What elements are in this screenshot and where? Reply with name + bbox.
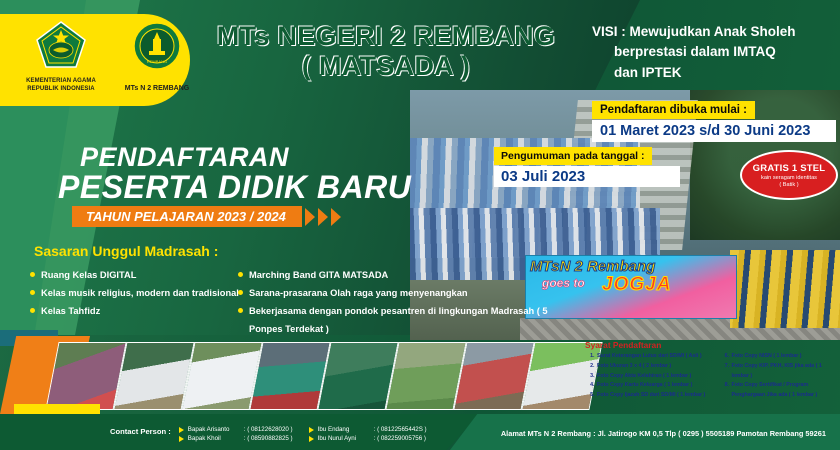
goal-text: Kelas musik religius, modern dan tradisi… — [41, 284, 239, 302]
bullet-dot-icon — [30, 308, 35, 313]
bullet-dot-icon — [238, 290, 243, 295]
headline: PENDAFTARAN PESERTA DIDIK BARU — [58, 142, 518, 206]
requirements-title: Syarat Pendaftaran — [585, 340, 837, 350]
chevron-right-icon-3 — [331, 208, 341, 226]
photo-strip — [0, 336, 580, 414]
requirements-section: Syarat Pendaftaran Surat Keterangan Lulu… — [585, 340, 837, 401]
list-item: Kelas musik religius, modern dan tradisi… — [30, 284, 245, 302]
school-title: MTs NEGERI 2 REMBANG ( MATSADA ) — [196, 22, 576, 80]
kemenag-caption-line1: KEMENTERIAN AGAMA — [22, 78, 100, 86]
arrow-right-icon — [179, 427, 184, 433]
headline-line2: PESERTA DIDIK BARU — [58, 169, 518, 206]
list-item: Foto Copy Akta Kelahiran ( 1 lembar ) — [596, 372, 714, 382]
school-title-line2: ( MATSADA ) — [196, 52, 576, 80]
registration-open-dates: 01 Maret 2023 s/d 30 Juni 2023 — [592, 120, 836, 142]
contact-phone: : ( 08122565442S ) — [374, 426, 427, 433]
contact-name: Ibu Nurul Ayni — [318, 435, 370, 442]
bullet-dot-icon — [238, 308, 243, 313]
contact-phone: : ( 082259005756 ) — [374, 435, 426, 442]
vision-statement: VISI : Mewujudkan Anak Sholeh berprestas… — [592, 22, 832, 83]
requirements-column-1: Surat Keterangan Lulus dari SD/MI ( Asli… — [585, 352, 714, 401]
free-badge-line3: ( Batik ) — [742, 182, 836, 188]
list-item: Foto Copy Ijazah SD dari SD/MI ( 1 lemba… — [596, 391, 714, 401]
goals-column-2: Marching Band GITA MATSADA Sarana-prasar… — [238, 266, 568, 339]
goal-text: Bekerjasama dengan pondok pesantren di l… — [249, 302, 568, 338]
kemenag-caption: KEMENTERIAN AGAMA REPUBLIK INDONESIA — [22, 78, 100, 94]
contact-phone: : ( 08122628020 ) — [244, 426, 293, 433]
requirements-column-2: Foto Copy NISN ( 1 lembar ) Foto Copy KI… — [720, 352, 837, 401]
free-badge-line2: kain seragam identitas — [742, 175, 836, 181]
goal-text: Sarana-prasarana Olah raga yang menyenan… — [249, 284, 468, 302]
madrasah-caption: MTs N 2 REMBANG — [118, 85, 196, 92]
school-address: Alamat MTs N 2 Rembang : Jl. Jatirogo KM… — [501, 429, 826, 438]
registration-open-label: Pendaftaran dibuka mulai : — [592, 101, 755, 119]
contact-name: Ibu Endang — [318, 426, 370, 433]
logo-group: KEMENTERIAN AGAMA REPUBLIK INDONESIA REM… — [22, 20, 196, 94]
list-item: Foto Copy KIP, PKH, KIS jika ada ( 1 lem… — [731, 362, 837, 382]
list-item: Bapak Khoil: ( 08590882825 ) — [179, 435, 293, 442]
kemenag-logo — [35, 20, 87, 70]
jogja-trip-photo: MTsN 2 Rembang goes to JOGJA — [520, 250, 840, 340]
vision-line2: berprestasi dalam IMTAQ — [592, 42, 832, 62]
bullet-dot-icon — [30, 290, 35, 295]
contact-phone: : ( 08590882825 ) — [244, 435, 293, 442]
contact-name: Bapak Khoil — [188, 435, 240, 442]
contact-name: Bapak Arisanto — [188, 426, 240, 433]
list-item: Surat Keterangan Lulus dari SD/MI ( Asli… — [596, 352, 714, 362]
list-item: Foto Ukuran 3 x 4 ( 2 lembar ) — [596, 362, 714, 372]
list-item: Ibu Nurul Ayni: ( 082259005756 ) — [309, 435, 427, 442]
chevron-right-icon-2 — [318, 208, 328, 226]
list-item: Ruang Kelas DIGITAL — [30, 266, 245, 284]
announcement-box: Pengumuman pada tanggal : 03 Juli 2023 — [494, 146, 680, 187]
madrasah-logo-cell: REMBANG MTs N 2 REMBANG — [118, 21, 196, 92]
contact-grid: Bapak Arisanto: ( 08122628020 ) Bapak Kh… — [179, 426, 427, 442]
list-item: Bapak Arisanto: ( 08122628020 ) — [179, 426, 293, 433]
goals-column-1: Ruang Kelas DIGITAL Kelas musik religius… — [30, 266, 245, 320]
free-badge-line1: GRATIS 1 STEL — [742, 163, 836, 174]
academic-year-banner: TAHUN PELAJARAN 2023 / 2024 — [72, 206, 341, 227]
requirements-columns: Surat Keterangan Lulus dari SD/MI ( Asli… — [585, 352, 837, 401]
madrasah-logo: REMBANG — [132, 21, 182, 71]
list-item: Marching Band GITA MATSADA — [238, 266, 568, 284]
promotional-banner: MTsN 2 Rembang goes to JOGJA KEMENTERIAN… — [0, 0, 840, 450]
svg-text:REMBANG: REMBANG — [147, 59, 167, 64]
contact-column-2: Ibu Endang: ( 08122565442S ) Ibu Nurul A… — [309, 426, 427, 442]
kemenag-caption-line2: REPUBLIK INDONESIA — [22, 86, 100, 94]
list-item: Sarana-prasarana Olah raga yang menyenan… — [238, 284, 568, 302]
kemenag-logo-cell: KEMENTERIAN AGAMA REPUBLIK INDONESIA — [22, 20, 100, 94]
vision-line3: dan IPTEK — [592, 63, 832, 83]
goals-title: Sasaran Unggul Madrasah : — [34, 243, 218, 259]
contact-section: Contact Person : Bapak Arisanto: ( 08122… — [110, 426, 427, 442]
goal-text: Marching Band GITA MATSADA — [249, 266, 388, 284]
list-item: Foto Copy Sertifikat / Program Pengharga… — [731, 381, 837, 401]
announcement-date: 03 Juli 2023 — [494, 166, 680, 187]
contact-column-1: Bapak Arisanto: ( 08122628020 ) Bapak Kh… — [179, 426, 293, 442]
contact-label: Contact Person : — [110, 426, 171, 436]
bullet-dot-icon — [238, 272, 243, 277]
academic-year-label: TAHUN PELAJARAN 2023 / 2024 — [72, 206, 302, 227]
photo-teachers — [730, 250, 840, 328]
arrow-right-icon — [309, 427, 314, 433]
bullet-dot-icon — [30, 272, 35, 277]
free-uniform-badge: GRATIS 1 STEL kain seragam identitas ( B… — [742, 152, 836, 198]
list-item: Foto Copy NISN ( 1 lembar ) — [731, 352, 837, 362]
list-item: Bekerjasama dengan pondok pesantren di l… — [238, 302, 568, 338]
goal-text: Kelas Tahfidz — [41, 302, 100, 320]
goal-text: Ruang Kelas DIGITAL — [41, 266, 136, 284]
arrow-right-icon — [179, 436, 184, 442]
jogja-banner-line3: JOGJA — [602, 274, 671, 296]
vision-line1: VISI : Mewujudkan Anak Sholeh — [592, 24, 796, 39]
arrow-right-icon — [309, 436, 314, 442]
school-title-line1: MTs NEGERI 2 REMBANG — [217, 21, 556, 51]
registration-open-box: Pendaftaran dibuka mulai : 01 Maret 2023… — [592, 100, 836, 142]
chevron-right-icon-1 — [305, 208, 315, 226]
list-item: Ibu Endang: ( 08122565442S ) — [309, 426, 427, 433]
list-item: Foto Copy Kartu Keluarga ( 1 lembar ) — [596, 381, 714, 391]
list-item: Kelas Tahfidz — [30, 302, 245, 320]
